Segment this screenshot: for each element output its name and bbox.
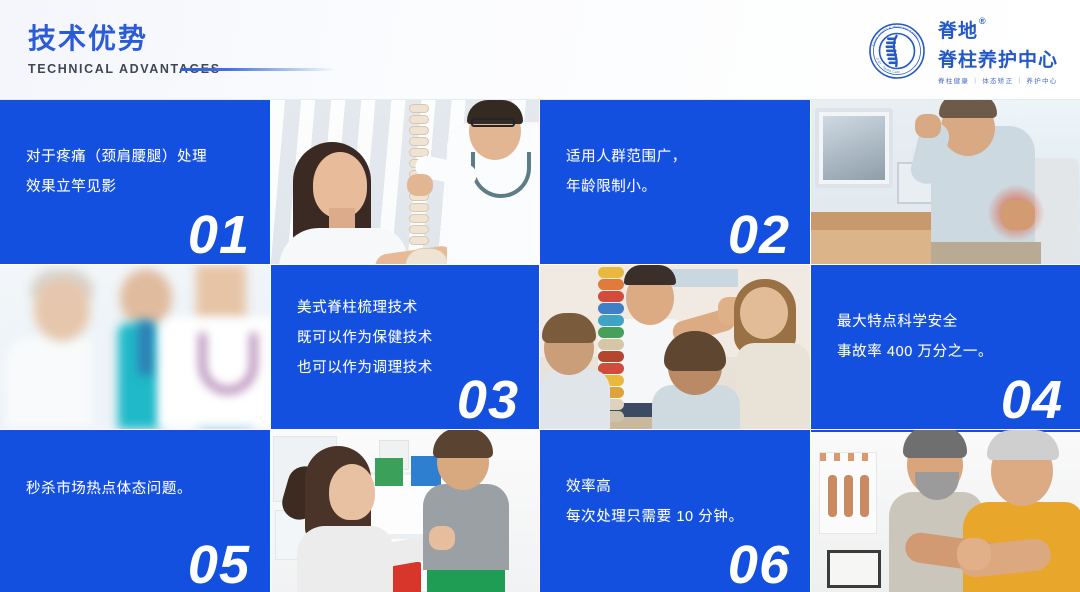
doctor-glasses-icon	[471, 118, 515, 127]
worker-hand-on-back	[1001, 200, 1035, 230]
wall-board	[668, 269, 738, 287]
advantage-line: 最大特点科学安全	[837, 307, 1069, 337]
advantage-line: 事故率 400 万分之一。	[837, 337, 1069, 367]
title-underline-gradient	[180, 68, 335, 71]
advantage-card-05: 秒杀市场热点体态问题。 05	[0, 430, 270, 592]
advantage-line: 既可以作为保健技术	[297, 323, 525, 353]
advantage-number-05: 05	[188, 538, 250, 592]
advantage-number-06: 06	[728, 538, 790, 592]
worker-hand-on-head	[915, 114, 941, 138]
advantages-grid: 对于疼痛（颈肩腰腿）处理 效果立竿见影 01	[0, 100, 1080, 592]
spine-emblem-icon: Spine Health & Wellness Center JI DI · S…	[866, 20, 928, 82]
child-right-body	[736, 343, 810, 429]
photo-therapist-treating-senior	[811, 430, 1080, 592]
photo-teaching-children-spine-model	[540, 265, 810, 429]
practitioner-face	[329, 464, 375, 520]
brand-tagline: 脊柱健康 | 体态矫正 | 养护中心	[938, 75, 1058, 85]
stethoscope-icon	[200, 333, 256, 393]
slide-technical-advantages: 技术优势 TECHNICAL ADVANTAGES Spine Health &…	[0, 0, 1080, 592]
boy-hair	[433, 430, 493, 458]
patient-hand	[957, 538, 991, 570]
monitor-screen	[823, 116, 885, 180]
photo-medical-team	[0, 265, 270, 429]
brand-tagline-part-2: 体态矫正	[982, 75, 1013, 85]
photo-office-worker-back-pain	[811, 100, 1080, 264]
page-title: 技术优势	[28, 22, 221, 56]
advantage-number-02: 02	[728, 208, 790, 262]
doctor-c-neck	[196, 265, 246, 321]
brand-tagline-part-1: 脊柱健康	[938, 75, 969, 85]
doctor-b-tie	[138, 321, 154, 375]
advantage-card-02-text: 适用人群范围广， 年龄限制小。	[566, 142, 796, 202]
advantage-number-04: 04	[1001, 373, 1063, 427]
advantage-card-05-text: 秒杀市场热点体态问题。	[26, 474, 256, 504]
desk-body	[811, 230, 951, 264]
advantage-card-01-text: 对于疼痛（颈肩腰腿）处理 效果立竿见影	[26, 142, 256, 202]
advantage-line: 对于疼痛（颈肩腰腿）处理	[26, 142, 256, 172]
advantage-card-04-text: 最大特点科学安全 事故率 400 万分之一。	[837, 307, 1069, 367]
brand-sub-name: 脊柱养护中心	[938, 45, 1058, 72]
child-right-face	[740, 287, 788, 339]
worker-hair	[939, 100, 997, 118]
framed-certificate	[827, 550, 881, 588]
brand-name-text: 脊地	[938, 16, 978, 43]
brand-text: 脊地 ® 脊柱养护中心 脊柱健康 | 体态矫正 | 养护中心	[938, 16, 1058, 85]
advantage-line: 适用人群范围广，	[566, 142, 796, 172]
advantage-card-06-text: 效率高 每次处理只需要 10 分钟。	[566, 472, 796, 532]
advantage-card-03: 美式脊柱梳理技术 既可以作为保健技术 也可以作为调理技术 03	[271, 265, 539, 429]
child-left-body	[540, 369, 610, 429]
advantage-card-06: 效率高 每次处理只需要 10 分钟。 06	[540, 430, 810, 592]
brand-tagline-part-3: 养护中心	[1026, 75, 1057, 85]
advantage-card-04: 最大特点科学安全 事故率 400 万分之一。 04	[811, 265, 1080, 429]
advantage-line: 每次处理只需要 10 分钟。	[566, 502, 796, 532]
advantage-line: 效率高	[566, 472, 796, 502]
photo-posture-check-child	[271, 430, 539, 592]
advantage-card-01: 对于疼痛（颈肩腰腿）处理 效果立竿见影 01	[0, 100, 270, 264]
presenter-hair	[624, 265, 676, 285]
brand-logo: Spine Health & Wellness Center JI DI · S…	[866, 16, 1058, 85]
advantage-line: 效果立竿见影	[26, 172, 256, 202]
doctor-hand	[407, 174, 433, 196]
slide-header: 技术优势 TECHNICAL ADVANTAGES Spine Health &…	[0, 0, 1080, 100]
advantage-line: 美式脊柱梳理技术	[297, 293, 525, 323]
practitioner-hand	[429, 526, 455, 550]
brand-name: 脊地 ®	[938, 16, 1058, 43]
brand-tagline-separator-2: |	[1018, 77, 1021, 84]
photo-doctor-showing-spine-model	[271, 100, 539, 264]
brand-tagline-separator-1: |	[974, 77, 977, 84]
toy-block-3	[375, 458, 403, 486]
advantage-number-03: 03	[457, 373, 519, 427]
advantage-number-01: 01	[188, 208, 250, 262]
doctor-b-face	[120, 269, 172, 327]
advantage-line: 年龄限制小。	[566, 172, 796, 202]
advantage-line: 秒杀市场热点体态问题。	[26, 474, 256, 504]
worker-pants	[931, 242, 1041, 264]
therapist-hair	[903, 430, 967, 458]
patient-hair	[987, 430, 1059, 460]
anatomy-poster	[819, 452, 877, 534]
registered-mark-icon: ®	[979, 17, 987, 26]
advantage-card-02: 适用人群范围广， 年龄限制小。 02	[540, 100, 810, 264]
doctor-a-face	[34, 279, 90, 341]
